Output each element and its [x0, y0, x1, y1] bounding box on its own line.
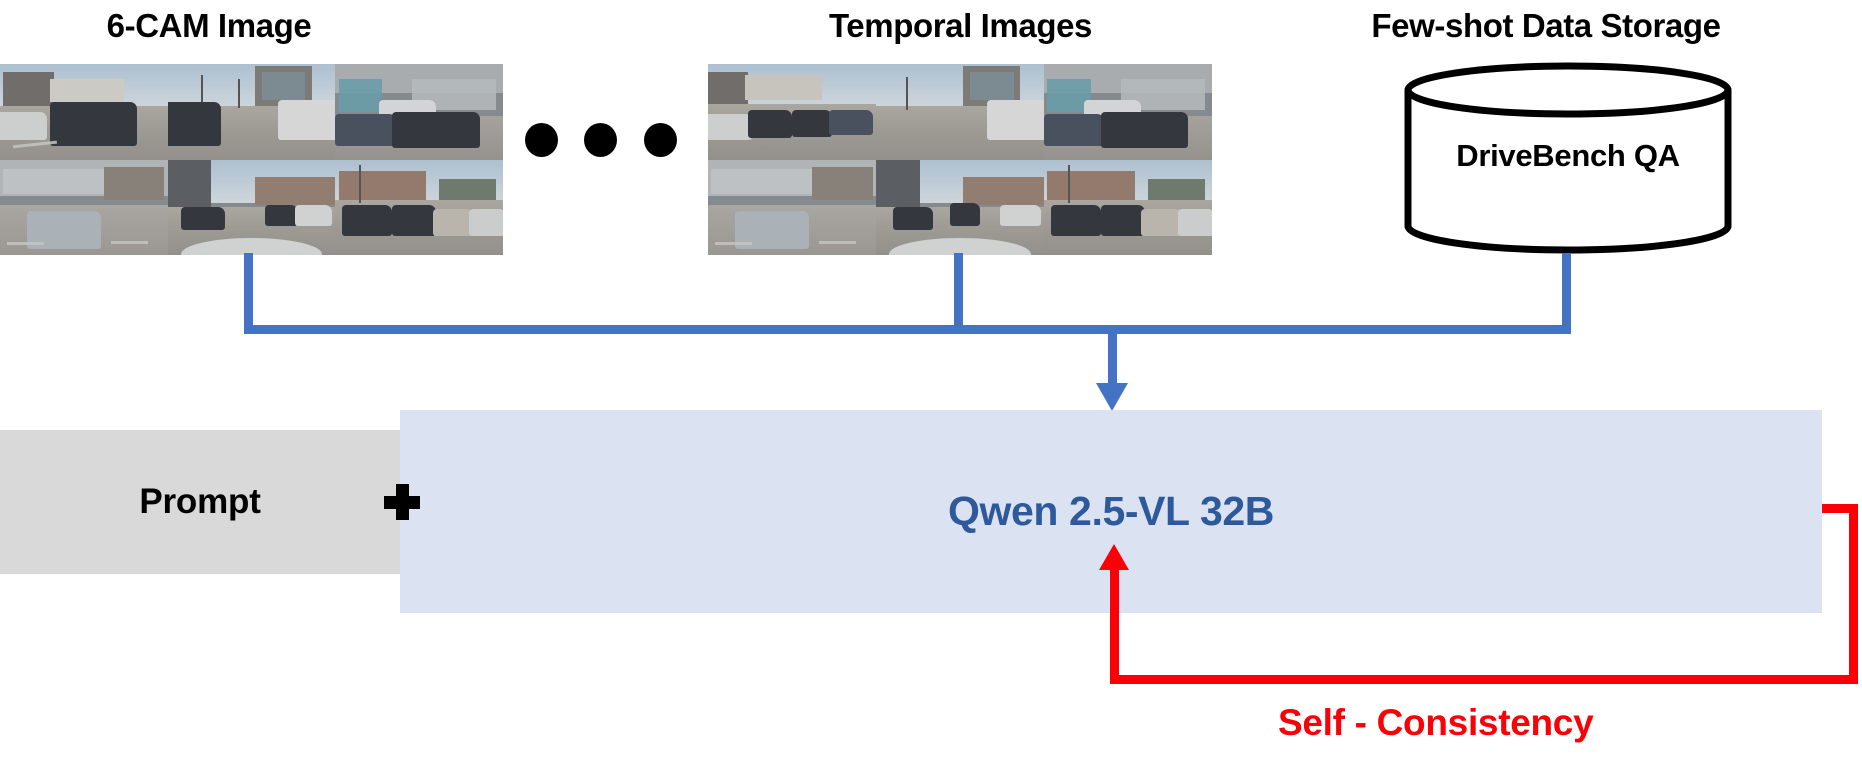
ellipsis-dot	[525, 123, 558, 157]
temporal-images-title: Temporal Images	[708, 8, 1213, 44]
six-cam-image-grid	[0, 64, 503, 255]
prompt-label: Prompt	[139, 482, 260, 522]
camera-image	[876, 64, 1044, 160]
camera-image	[0, 160, 168, 256]
camera-image	[168, 160, 336, 256]
camera-image	[708, 64, 876, 160]
connector-line-six-cam	[244, 253, 253, 333]
temporal-image-grid	[708, 64, 1212, 255]
connector-line-storage	[1562, 253, 1571, 333]
diagram-canvas: 6-CAM Image Temporal Images Few-shot Dat…	[0, 0, 1862, 771]
ellipsis-dots	[525, 118, 685, 162]
camera-image	[876, 160, 1044, 256]
camera-image	[335, 64, 503, 160]
ellipsis-dot	[584, 123, 617, 157]
cylinder-label: DriveBench QA	[1403, 138, 1733, 174]
connector-line-temporal	[954, 253, 963, 333]
model-label: Qwen 2.5-VL 32B	[948, 488, 1274, 535]
connector-line-bus	[244, 325, 1571, 334]
six-cam-title: 6-CAM Image	[0, 8, 418, 44]
feedback-arrowhead-icon	[1099, 544, 1129, 570]
plus-icon	[384, 484, 420, 520]
self-consistency-label: Self - Consistency	[1278, 702, 1593, 744]
camera-image	[0, 64, 168, 160]
connector-arrow-stem	[1108, 325, 1117, 389]
database-cylinder: DriveBench QA	[1403, 62, 1733, 254]
camera-image	[335, 160, 503, 256]
feedback-line-bottom	[1110, 675, 1858, 684]
connector-arrowhead-icon	[1096, 383, 1128, 411]
ellipsis-dot	[644, 123, 677, 157]
feedback-line-left	[1110, 566, 1119, 684]
camera-image	[1044, 64, 1212, 160]
camera-image	[168, 64, 336, 160]
camera-image	[1044, 160, 1212, 256]
few-shot-storage-title: Few-shot Data Storage	[1286, 8, 1806, 44]
feedback-line-right	[1849, 504, 1858, 684]
prompt-box[interactable]: Prompt	[0, 430, 400, 574]
camera-image	[708, 160, 876, 256]
